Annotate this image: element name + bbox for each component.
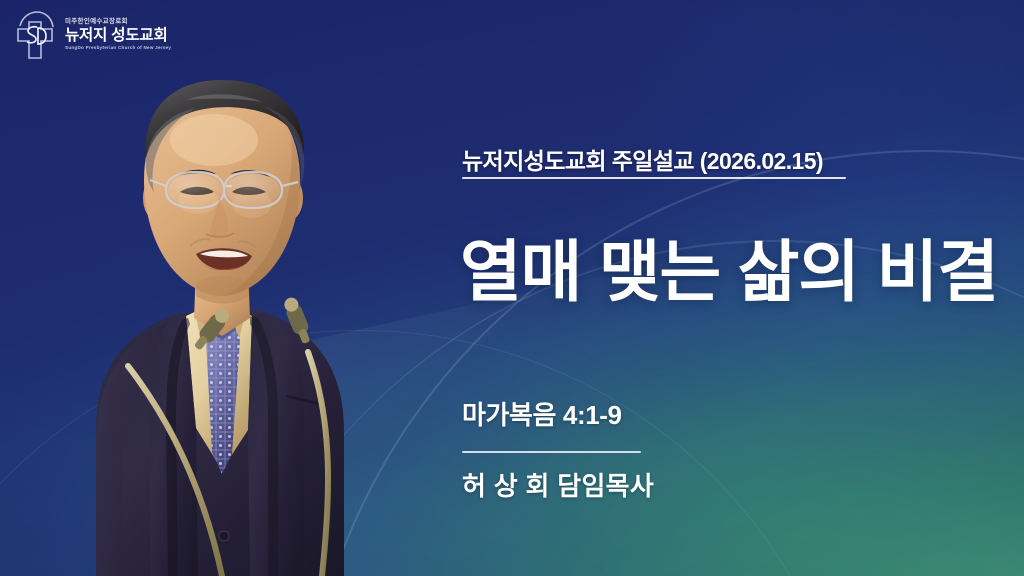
speaker-name: 허 상 회 담임목사	[462, 466, 654, 503]
speaker-divider	[462, 451, 641, 453]
logo-denomination: 미주한인예수교장로회	[65, 19, 171, 26]
church-logo: 미주한인예수교장로회 뉴저지 성도교회 SungDo Presbyterian …	[12, 8, 171, 62]
sermon-title-slide: 미주한인예수교장로회 뉴저지 성도교회 SungDo Presbyterian …	[0, 0, 1024, 576]
scripture-reference: 마가복음 4:1-9	[462, 395, 622, 432]
series-underline	[462, 177, 846, 179]
sermon-text-block: 뉴저지성도교회 주일설교 (2026.02.15) 열매 맺는 삶의 비결 마가…	[461, 0, 1024, 576]
logo-church-name-en: SungDo Presbyterian Church of New Jersey	[65, 46, 171, 51]
speaker-photo	[0, 0, 430, 576]
sermon-title: 열매 맺는 삶의 비결	[460, 238, 1024, 308]
logo-church-name-kr: 뉴저지 성도교회	[65, 28, 171, 44]
series-label: 뉴저지성도교회 주일설교 (2026.02.15)	[462, 142, 1024, 176]
cross-monogram-icon	[12, 10, 58, 60]
